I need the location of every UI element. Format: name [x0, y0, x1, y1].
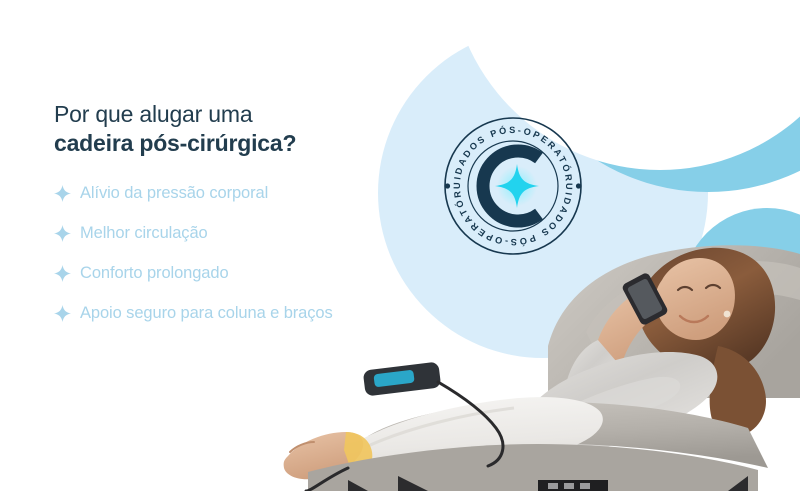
headline-line-2: cadeira pós-cirúrgica? [54, 129, 354, 158]
brand-badge-logo: CUIDADOS PÓS-OPERATÓRIO CUIDADOS PÓS-OPE… [443, 116, 583, 256]
sparkle-icon [54, 265, 71, 282]
list-item: Conforto prolongado [54, 263, 354, 284]
sparkle-icon [495, 164, 539, 208]
headline-line-1: Por que alugar uma [54, 100, 354, 129]
benefit-label: Alívio da pressão corporal [80, 183, 268, 204]
promo-banner: Por que alugar uma cadeira pós-cirúrgica… [0, 0, 800, 491]
sparkle-icon [54, 185, 71, 202]
text-column: Por que alugar uma cadeira pós-cirúrgica… [54, 100, 354, 324]
list-item: Alívio da pressão corporal [54, 183, 354, 204]
page-title: Por que alugar uma cadeira pós-cirúrgica… [54, 100, 354, 159]
benefits-list: Alívio da pressão corporal Melhor circul… [54, 183, 354, 324]
list-item: Apoio seguro para coluna e braços [54, 303, 354, 324]
benefit-label: Apoio seguro para coluna e braços [80, 303, 333, 324]
benefit-label: Melhor circulação [80, 223, 208, 244]
sparkle-icon [54, 225, 71, 242]
sparkle-icon [54, 305, 71, 322]
list-item: Melhor circulação [54, 223, 354, 244]
benefit-label: Conforto prolongado [80, 263, 229, 284]
